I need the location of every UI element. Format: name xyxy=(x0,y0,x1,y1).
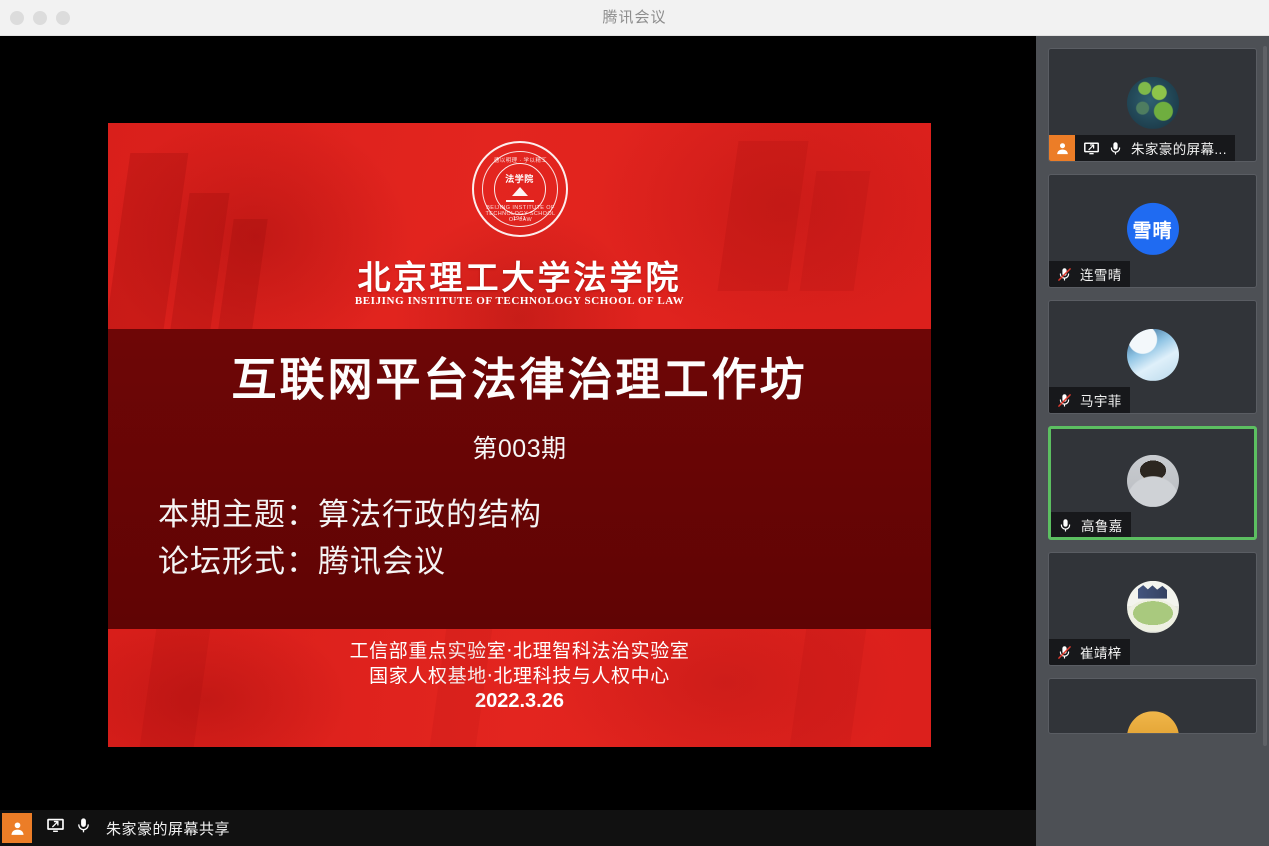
participant-tile[interactable]: 雪晴连雪晴 xyxy=(1048,174,1257,288)
microphone-icon[interactable] xyxy=(1058,517,1073,534)
avatar xyxy=(1127,711,1179,734)
person-icon xyxy=(1049,135,1075,161)
slide-detail-lines: 本期主题：算法行政的结构 论坛形式：腾讯会议 xyxy=(158,492,542,585)
texture-stroke xyxy=(717,141,808,291)
participant-name: 连雪晴 xyxy=(1080,264,1122,284)
amber-photo-avatar xyxy=(1127,711,1179,734)
screen-share-label: 朱家豪的屏幕共享 xyxy=(106,818,230,839)
crest-arc-bottom-text: BEIJING INSTITUTE OF TECHNOLOGY SCHOOL O… xyxy=(483,205,559,223)
school-name-cn: 北京理工大学法学院 xyxy=(358,251,682,299)
avatar xyxy=(1127,77,1179,129)
window-titlebar: 腾讯会议 xyxy=(0,0,1269,36)
microphone-muted-icon[interactable] xyxy=(1057,392,1072,409)
participant-tile[interactable]: 朱家豪的屏幕... xyxy=(1048,48,1257,162)
participant-tile[interactable]: 高鲁嘉 xyxy=(1048,426,1257,540)
participant-name-chip: 崔靖梓 xyxy=(1049,639,1130,665)
microphone-icon xyxy=(75,816,92,840)
slide-body: 互联网平台法律治理工作坊 第003期 本期主题：算法行政的结构 论坛形式：腾讯会… xyxy=(108,329,931,629)
slide-header: 德以明理 · 学以精工 法学院 1941 BEIJING INSTITUTE O… xyxy=(108,123,931,329)
participant-name: 朱家豪的屏幕... xyxy=(1131,138,1227,158)
school-name-en: BEIJING INSTITUTE OF TECHNOLOGY SCHOOL O… xyxy=(355,295,684,307)
person-icon xyxy=(2,813,32,843)
participant-tile[interactable]: 马宇菲 xyxy=(1048,300,1257,414)
participant-name: 高鲁嘉 xyxy=(1081,515,1123,535)
participant-filmstrip[interactable]: 朱家豪的屏幕...雪晴连雪晴马宇菲高鲁嘉崔靖梓 xyxy=(1036,36,1269,734)
participant-name-chip: 朱家豪的屏幕... xyxy=(1049,135,1235,161)
globe-avatar xyxy=(1127,77,1179,129)
screen-share-statusbar: 朱家豪的屏幕共享 xyxy=(0,810,1036,846)
participant-tile[interactable] xyxy=(1048,678,1257,734)
participant-tile[interactable]: 崔靖梓 xyxy=(1048,552,1257,666)
crest-emblem-icon xyxy=(506,187,534,203)
person-photo-avatar xyxy=(1127,455,1179,507)
screen-share-icon xyxy=(46,816,65,840)
crest-center-text: 法学院 xyxy=(505,175,534,184)
shared-screen-stage[interactable]: 德以明理 · 学以精工 法学院 1941 BEIJING INSTITUTE O… xyxy=(0,36,1036,846)
avatar xyxy=(1127,581,1179,633)
texture-stroke xyxy=(218,219,267,329)
participant-name-chip: 马宇菲 xyxy=(1049,387,1130,413)
microphone-muted-icon[interactable] xyxy=(1057,266,1072,283)
texture-stroke xyxy=(800,171,871,291)
slide-footer: 工信部重点实验室·北理智科法治实验室 国家人权基地·北理科技与人权中心 2022… xyxy=(108,629,931,747)
soup-photo-avatar xyxy=(1127,581,1179,633)
microphone-muted-icon[interactable] xyxy=(1057,644,1072,661)
avatar xyxy=(1127,455,1179,507)
microphone-icon[interactable] xyxy=(1108,140,1123,157)
law-school-crest-icon: 德以明理 · 学以精工 法学院 1941 BEIJING INSTITUTE O… xyxy=(472,141,568,237)
avatar: 雪晴 xyxy=(1127,203,1179,255)
slide-main-title: 互联网平台法律治理工作坊 xyxy=(231,343,807,408)
presentation-slide: 德以明理 · 学以精工 法学院 1941 BEIJING INSTITUTE O… xyxy=(108,123,931,747)
crest-arc-top-text: 德以明理 · 学以精工 xyxy=(483,156,559,164)
slide-format-line: 论坛形式：腾讯会议 xyxy=(158,539,542,586)
participants-sidebar[interactable]: 朱家豪的屏幕...雪晴连雪晴马宇菲高鲁嘉崔靖梓 xyxy=(1036,36,1269,846)
slide-topic-line: 本期主题：算法行政的结构 xyxy=(158,492,542,539)
sidebar-scrollbar[interactable] xyxy=(1263,46,1267,746)
participant-name: 崔靖梓 xyxy=(1080,642,1122,662)
participant-name-chip: 高鲁嘉 xyxy=(1050,512,1131,538)
participant-name-chip: 连雪晴 xyxy=(1049,261,1130,287)
participant-name: 马宇菲 xyxy=(1080,390,1122,410)
sky-photo-avatar xyxy=(1127,329,1179,381)
avatar xyxy=(1127,329,1179,381)
slide-issue-number: 第003期 xyxy=(472,429,566,465)
window-title: 腾讯会议 xyxy=(0,0,1269,36)
screen-share-icon xyxy=(1083,140,1100,157)
